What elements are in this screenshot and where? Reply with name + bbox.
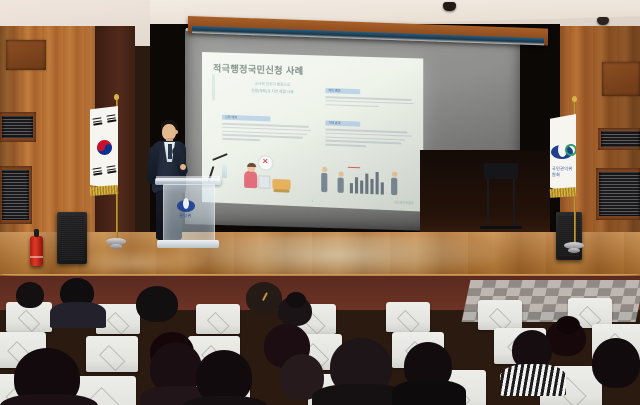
flag-label: 국민권익위원회 — [552, 166, 576, 178]
presenter-tie — [168, 144, 172, 159]
chart-bar — [360, 180, 363, 193]
hvac-vent-icon — [2, 116, 33, 138]
slide-page-number: 1 — [312, 199, 314, 203]
slide-illustration-right — [321, 155, 412, 201]
flag-stand-base — [110, 244, 122, 249]
hvac-vent-icon — [601, 131, 640, 147]
lectern-emblem-icon: 권익위 — [176, 198, 196, 220]
ceiling-speaker-icon — [443, 2, 456, 11]
audience-head — [16, 282, 44, 308]
person-hair — [247, 163, 256, 167]
flag-fringe — [550, 187, 577, 198]
hair-bun — [556, 316, 580, 334]
person-figure — [338, 178, 344, 193]
audience-shoulders — [0, 394, 98, 405]
slide-tag: 처리 결과 — [325, 88, 360, 94]
slide-accent-bar — [212, 74, 215, 100]
speaker-grill — [60, 215, 84, 261]
slide-illustration-left — [232, 151, 303, 194]
lectern-base — [157, 240, 219, 248]
flag-fringe — [90, 185, 119, 196]
lectern-banner — [156, 176, 220, 181]
flag-cloth — [90, 106, 118, 190]
trigram-icon — [106, 165, 116, 174]
stand-base — [480, 226, 522, 229]
slide-tag: 신청 배경 — [222, 115, 270, 122]
presenter-hand — [180, 164, 186, 170]
presenter-ear — [175, 130, 178, 134]
stand-leg — [513, 170, 515, 230]
fire-extinguisher — [30, 236, 43, 266]
chart-bar — [376, 172, 379, 194]
chart-bar — [355, 177, 358, 193]
seat[interactable] — [196, 304, 240, 334]
wall-panel — [602, 62, 640, 96]
chart-bar — [365, 174, 368, 194]
audience-shoulders-striped — [500, 364, 566, 396]
hvac-vent-icon — [2, 170, 29, 220]
hvac-vent-icon — [599, 172, 640, 216]
slide-right-column-2: 기대 효과 — [325, 120, 414, 151]
slide-subtitle: 소극적 인허가 행정으로 민원(계획)과 지연 해결 사례 — [226, 80, 319, 97]
chart-bar — [381, 182, 385, 194]
cart-icon — [272, 179, 290, 190]
chart-bar — [370, 179, 373, 194]
ceiling-speaker-icon — [597, 17, 609, 25]
audience-shoulders — [392, 380, 466, 405]
audience-head — [592, 338, 640, 388]
flag-right-institutional: 국민권익위원회 — [548, 100, 596, 272]
seat[interactable] — [386, 302, 430, 332]
flag-stand-base — [568, 248, 580, 253]
slide-paragraph — [222, 123, 311, 143]
audience-shoulders — [50, 302, 106, 328]
wall-panel — [6, 40, 46, 70]
institution-emblem-icon — [551, 142, 575, 162]
chart-bar — [350, 183, 353, 193]
trigram-icon — [106, 114, 116, 123]
audience-area — [0, 276, 640, 405]
trigram-icon — [92, 117, 102, 126]
audience-head — [136, 286, 178, 322]
slide-footer-logo: 국민권익위원회 — [394, 200, 414, 205]
flag-cloth: 국민권익위원회 — [550, 114, 576, 194]
pa-loudspeaker — [57, 212, 87, 264]
seat[interactable] — [478, 300, 522, 330]
person-figure — [391, 178, 397, 196]
slide-left-column: 신청 배경 — [222, 115, 311, 145]
person-figure — [321, 173, 327, 192]
seat[interactable] — [86, 336, 138, 372]
slide-right-column-1: 처리 결과 — [325, 88, 414, 111]
extinguisher-label — [30, 256, 43, 258]
slide-tag: 기대 효과 — [325, 120, 360, 126]
flag-left-south-korea — [88, 98, 134, 270]
lectern: 권익위 — [160, 178, 216, 248]
chart-connector — [348, 166, 360, 168]
water-bottle-icon — [222, 164, 227, 178]
slide-paragraph — [325, 96, 414, 108]
hair-bun — [286, 292, 306, 308]
person-figure — [244, 171, 257, 189]
taeguk-symbol-icon — [97, 140, 112, 155]
x-mark-bubble-icon — [258, 155, 273, 171]
extinguisher-nozzle — [34, 229, 39, 237]
slide-paragraph — [325, 128, 414, 148]
trigram-icon — [92, 167, 102, 176]
projected-slide: 적극행정국민신청 사례 소극적 인허가 행정으로 민원(계획)과 지연 해결 사… — [202, 52, 423, 212]
slide-title: 적극행정국민신청 사례 — [213, 61, 304, 77]
auditorium-photo: 적극행정국민신청 사례 소극적 인허가 행정으로 민원(계획)과 지연 해결 사… — [0, 0, 640, 405]
white-box-icon — [258, 175, 270, 189]
audience-shoulders — [182, 396, 268, 405]
stool-seat — [484, 163, 518, 179]
